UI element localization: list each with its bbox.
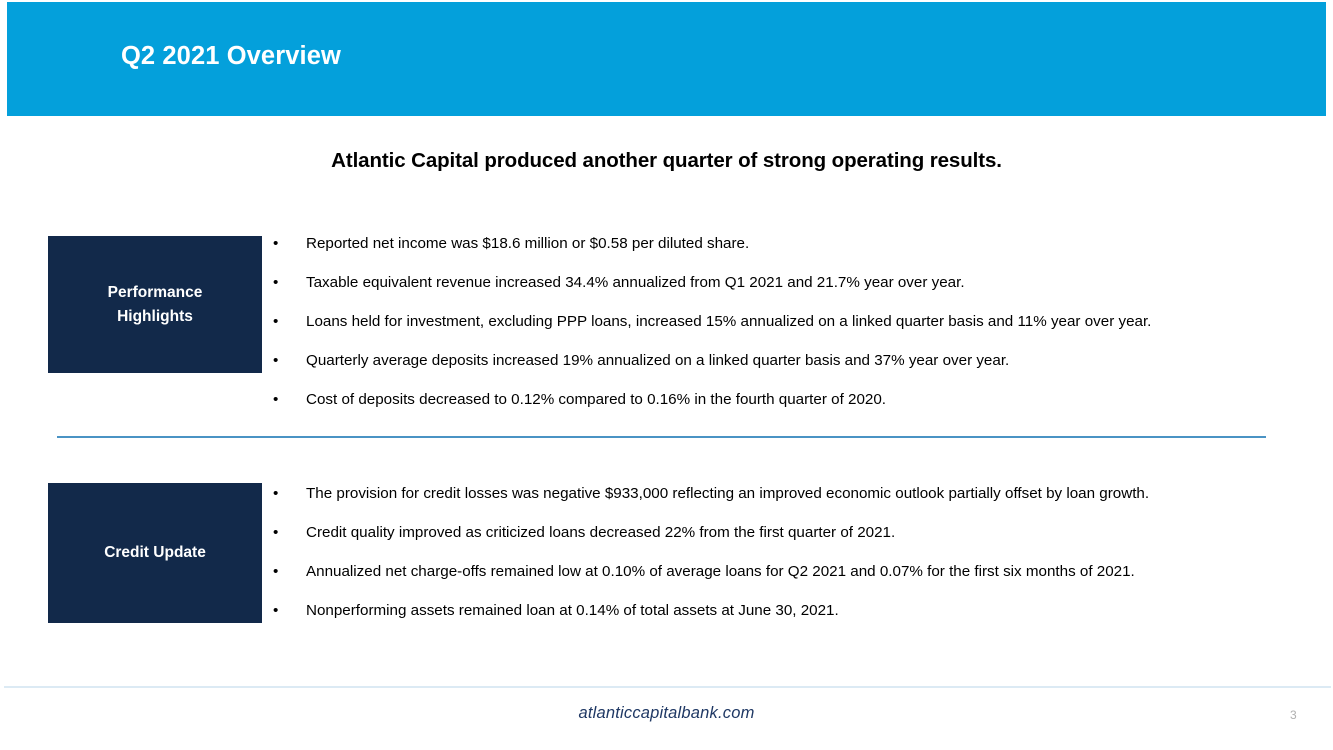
slide: Q2 2021 Overview Atlantic Capital produc… [0, 0, 1333, 750]
list-item-text: Quarterly average deposits increased 19%… [306, 352, 1009, 369]
bullet-marker-icon: • [273, 482, 278, 506]
list-item: • Credit quality improved as criticized … [266, 521, 1294, 545]
list-item-text: Nonperforming assets remained loan at 0.… [306, 602, 839, 619]
list-item: • Taxable equivalent revenue increased 3… [266, 271, 1294, 295]
list-item-text: Annualized net charge-offs remained low … [306, 563, 1135, 580]
section-divider [57, 436, 1266, 438]
bullet-marker-icon: • [273, 310, 278, 334]
list-item: • The provision for credit losses was ne… [266, 482, 1294, 506]
bullet-marker-icon: • [273, 232, 278, 256]
bullet-marker-icon: • [273, 349, 278, 373]
section-label-credit-update: Credit Update [48, 483, 262, 623]
list-item: • Annualized net charge-offs remained lo… [266, 560, 1294, 584]
list-item-text: Cost of deposits decreased to 0.12% comp… [306, 391, 886, 408]
header-banner: Q2 2021 Overview [7, 2, 1326, 116]
list-item: • Loans held for investment, excluding P… [266, 310, 1294, 334]
section-label-performance-highlights: Performance Highlights [48, 236, 262, 373]
list-item-text: The provision for credit losses was nega… [306, 485, 1149, 502]
bullet-marker-icon: • [273, 599, 278, 623]
section-label-text: Performance Highlights [108, 281, 203, 328]
footer-website-url: atlanticcapitalbank.com [0, 704, 1333, 723]
bullet-marker-icon: • [273, 560, 278, 584]
list-item: • Cost of deposits decreased to 0.12% co… [266, 388, 1294, 412]
slide-subtitle: Atlantic Capital produced another quarte… [0, 149, 1333, 173]
list-item-text: Taxable equivalent revenue increased 34.… [306, 274, 965, 291]
bullet-marker-icon: • [273, 521, 278, 545]
section-label-text: Credit Update [104, 541, 206, 564]
page-number: 3 [1290, 708, 1310, 722]
list-item-text: Reported net income was $18.6 million or… [306, 235, 749, 252]
bullet-marker-icon: • [273, 271, 278, 295]
bullet-marker-icon: • [273, 388, 278, 412]
page-title: Q2 2021 Overview [121, 42, 341, 71]
bullet-list-credit-update: • The provision for credit losses was ne… [266, 482, 1294, 623]
list-item-text: Credit quality improved as criticized lo… [306, 524, 895, 541]
list-item-text: Loans held for investment, excluding PPP… [306, 313, 1151, 330]
footer-divider [4, 686, 1331, 688]
list-item: • Nonperforming assets remained loan at … [266, 599, 1294, 623]
list-item: • Quarterly average deposits increased 1… [266, 349, 1294, 373]
list-item: • Reported net income was $18.6 million … [266, 232, 1294, 256]
bullet-list-performance-highlights: • Reported net income was $18.6 million … [266, 232, 1294, 412]
